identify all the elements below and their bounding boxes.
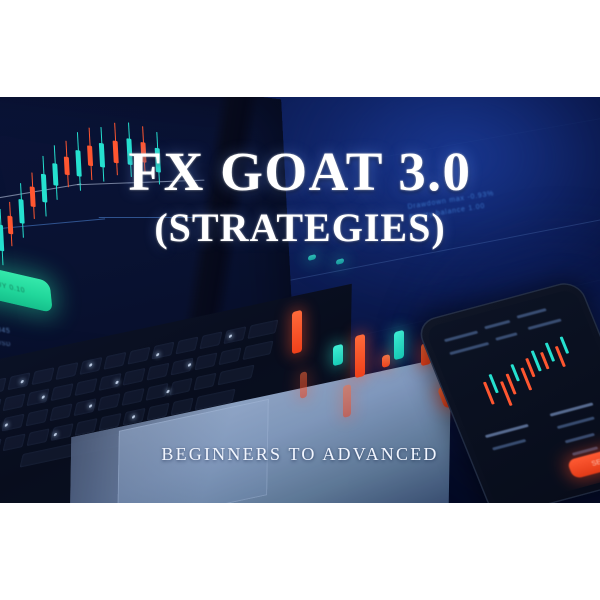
phone-list-row: [528, 318, 562, 330]
phone-sell-label: SELL: [591, 456, 600, 467]
desk-candlestick: [394, 330, 404, 360]
desk-candlestick: [292, 310, 302, 354]
phone-candlestick: [488, 374, 498, 393]
desk-candlestick: [336, 258, 344, 265]
phone-list-row: [557, 416, 595, 429]
desk-candlestick: [343, 384, 351, 418]
phone-candlestick: [540, 352, 550, 369]
phone-candlestick: [510, 364, 520, 381]
cover-canvas: 1.0845 EURUSD BUY 0.10: [0, 0, 600, 600]
desk-candlestick: [333, 344, 343, 366]
phone-candlestick: [545, 342, 555, 361]
desk-candlestick: [355, 334, 365, 378]
phone-list-row: [550, 402, 594, 416]
cover-photo: 1.0845 EURUSD BUY 0.10: [0, 97, 600, 503]
phone-list-row: [449, 342, 489, 355]
phone-candlestick: [560, 336, 570, 353]
phone-list-row: [516, 308, 546, 319]
desk-candlestick: [382, 354, 390, 368]
phone-list-row: [485, 424, 529, 438]
phone-list-row: [492, 439, 526, 451]
phone-list-row: [495, 332, 518, 341]
phone-list-row: [565, 433, 595, 444]
phone-list-row: [484, 320, 510, 330]
desk-candlestick: [300, 371, 307, 399]
phone-list-row: [444, 331, 478, 343]
desk-candlestick: [308, 254, 316, 261]
